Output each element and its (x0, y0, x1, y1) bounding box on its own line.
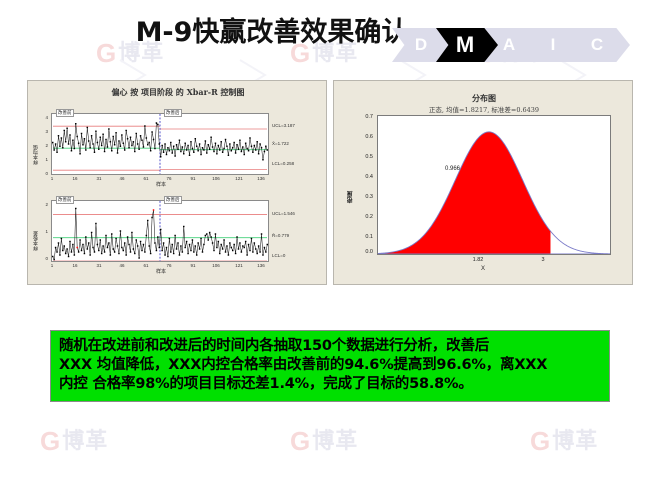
dmaic-step-label: M (456, 32, 474, 58)
callout-line-3: 内控 合格率98%的项目目标还差1.4%，完成了目标的58.8%。 (59, 375, 601, 394)
distribution-xtick-mean: 1.82 (465, 257, 491, 263)
r-xtick: 136 (254, 263, 268, 268)
distribution-area-annotation: 0.966 (445, 166, 460, 172)
xbar-xtick: 1 (46, 176, 58, 181)
r-phase-label-before: 改善前 (56, 196, 74, 204)
dmaic-step-label: D (415, 35, 427, 55)
xbar-xtick: 46 (116, 176, 128, 181)
dmaic-step-label: A (503, 35, 515, 55)
xbar-plot-area (51, 113, 269, 175)
xbar-ytick: 3 (38, 129, 48, 134)
xbar-plot-svg (52, 114, 268, 174)
slide-canvas: G 博革 G 博革 G 博革 G 博革 G 博革 G 博革 G 博革 (0, 0, 660, 495)
r-ytick: 0 (38, 256, 48, 261)
r-xtick: 91 (186, 263, 200, 268)
watermark-logo: G 博革 (530, 428, 598, 454)
distribution-ytick: 0.3 (351, 194, 373, 200)
r-y-axis-label: 样本极差 (32, 205, 39, 251)
distribution-chart-title: 分布图 (334, 93, 634, 104)
xbar-xtick: 91 (186, 176, 200, 181)
r-xtick: 1 (46, 263, 58, 268)
r-subchart: 样本极差 2 1 0 改善前 改善后 UCL=1.546 R̄=0.779 LC… (28, 189, 328, 281)
xbar-ytick: 1 (38, 157, 48, 162)
xbar-lcl-label: LCL=0.258 (272, 161, 294, 166)
distribution-chart-panel: 分布图 正态, 均值=1.8217, 标准差=0.6439 密度 0.7 0.6… (333, 80, 633, 285)
xbar-ucl-label: UCL=3.187 (272, 123, 295, 128)
r-ytick: 2 (38, 202, 48, 207)
r-xtick: 121 (232, 263, 246, 268)
watermark-mark: G (40, 428, 58, 454)
r-xtick: 106 (209, 263, 223, 268)
watermark-text: 博革 (552, 430, 598, 452)
xbar-ytick: 2 (38, 143, 48, 148)
watermark-chevrons (0, 400, 660, 495)
distribution-x-axis-label: X (334, 266, 632, 272)
distribution-ytick: 0.6 (351, 134, 373, 140)
summary-callout: 随机在改进前和改进后的时间内各抽取150个数据进行分析，改善后 XXX 均值降低… (50, 330, 610, 402)
dmaic-step-label: I (551, 35, 556, 55)
watermark-mark: G (290, 428, 308, 454)
r-x-axis-label: 样本 (138, 268, 184, 275)
r-xtick: 46 (116, 263, 128, 268)
distribution-chart-subtitle: 正态, 均值=1.8217, 标准差=0.6439 (334, 104, 634, 114)
xbar-r-chart-panel: 偏心 按 项目阶段 的 Xbar-R 控制图 样本均值 4 3 2 1 0 改善… (27, 80, 327, 285)
xbar-subchart: 样本均值 4 3 2 1 0 改善前 改善后 UCL=3.187 X̄=1.72… (28, 99, 328, 187)
r-lcl-label: LCL=0 (272, 253, 285, 258)
distribution-ytick: 0.0 (351, 249, 373, 255)
xbar-xtick: 31 (93, 176, 105, 181)
watermark-text: 博革 (312, 430, 358, 452)
r-xtick: 31 (93, 263, 105, 268)
r-cl-label: R̄=0.779 (272, 233, 289, 238)
r-ytick: 1 (38, 229, 48, 234)
distribution-ytick: 0.2 (351, 214, 373, 220)
r-plot-svg (52, 201, 268, 261)
xbar-xtick: 106 (209, 176, 223, 181)
watermark-mark: G (530, 428, 548, 454)
distribution-ytick: 0.7 (351, 114, 373, 120)
distribution-plot-area (377, 115, 611, 255)
xbar-chart-title: 偏心 按 项目阶段 的 Xbar-R 控制图 (28, 87, 328, 98)
callout-line-1: 随机在改进前和改进后的时间内各抽取150个数据进行分析，改善后 (59, 337, 601, 356)
xbar-x-axis-label: 样本 (138, 181, 184, 188)
xbar-xtick: 136 (254, 176, 268, 181)
callout-line-2: XXX 均值降低，XXX内控合格率由改善前的94.6%提高到96.6%，离XXX (59, 356, 601, 375)
r-phase-label-after: 改善后 (164, 196, 182, 204)
page-title-text: M-9快赢改善效果确认 (136, 10, 409, 49)
distribution-plot-svg (378, 116, 610, 254)
dmaic-banner: D M A I C (392, 28, 642, 64)
watermark-text: 博革 (62, 430, 108, 452)
r-xtick: 16 (69, 263, 81, 268)
dmaic-step-label: C (591, 35, 603, 55)
distribution-ytick: 0.5 (351, 154, 373, 160)
watermark-logo: G 博革 (290, 428, 358, 454)
xbar-xtick: 16 (69, 176, 81, 181)
xbar-ytick: 4 (38, 115, 48, 120)
distribution-ytick: 0.4 (351, 174, 373, 180)
xbar-phase-label-after: 改善后 (164, 109, 182, 117)
r-ucl-label: UCL=1.546 (272, 211, 295, 216)
watermark-logo: G 博革 (40, 428, 108, 454)
xbar-phase-label-before: 改善前 (56, 109, 74, 117)
distribution-ytick: 0.1 (351, 234, 373, 240)
xbar-xtick: 121 (232, 176, 246, 181)
xbar-cl-label: X̄=1.722 (272, 141, 289, 146)
distribution-xtick-bound: 3 (536, 257, 550, 263)
r-plot-area (51, 200, 269, 262)
